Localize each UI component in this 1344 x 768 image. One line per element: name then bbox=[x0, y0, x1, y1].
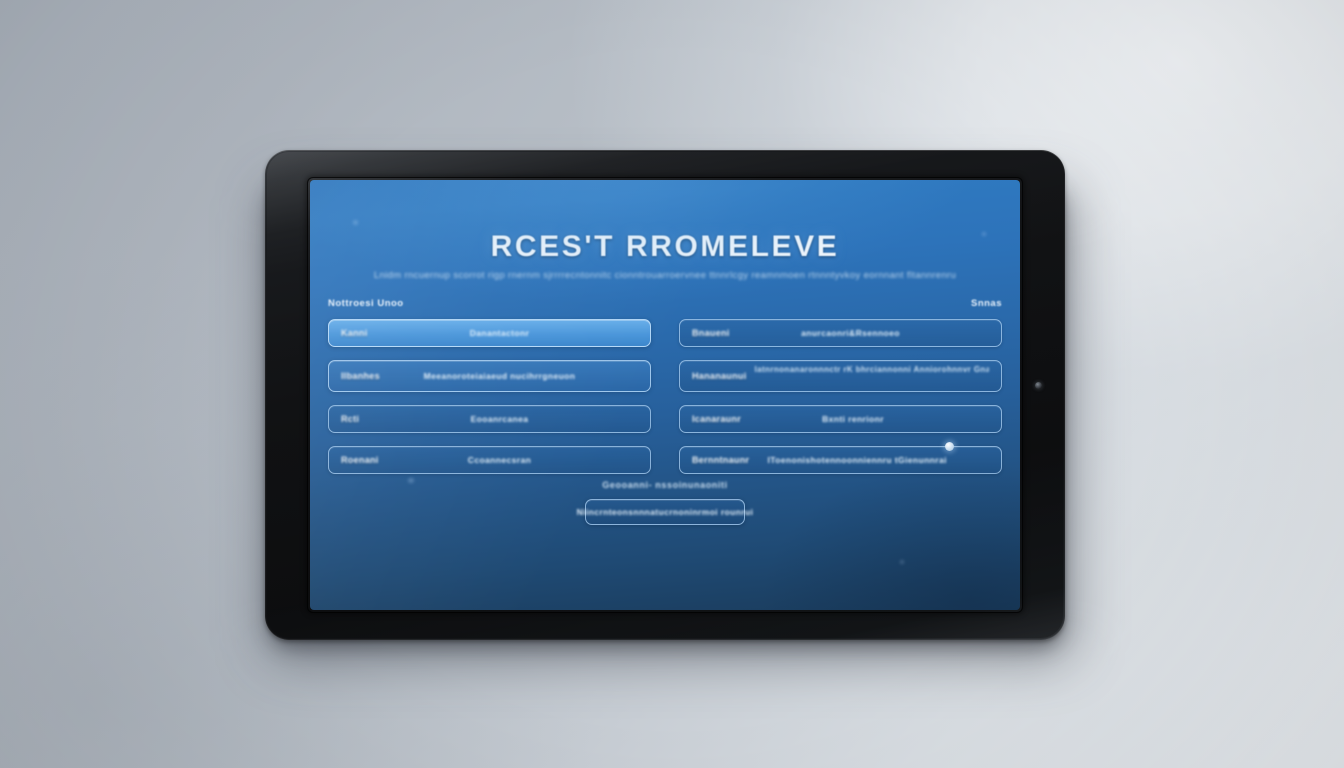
app-ui-root: RCES'T RROMELEVE Lnidm rncuernup scorrot… bbox=[310, 180, 1020, 610]
field-value: Ccoannecsran bbox=[385, 455, 638, 465]
tablet-device: RCES'T RROMELEVE Lnidm rncuernup scorrot… bbox=[265, 150, 1065, 640]
field-row[interactable]: Hananaunui latnrnonanaronnnctr rK bhrcia… bbox=[679, 360, 1002, 392]
form-area: Nottroesi Unoo Kanni Danantactonr Ilbanh… bbox=[328, 298, 1002, 487]
camera-dot-icon bbox=[1035, 382, 1042, 389]
field-label: Roenani bbox=[341, 455, 385, 465]
field-label: Bernntnaunr bbox=[692, 455, 749, 465]
field-label: Bnaueni bbox=[692, 328, 736, 338]
field-row[interactable]: Icanaraunr Bxnti renrionr bbox=[679, 405, 1002, 433]
tablet-screen: RCES'T RROMELEVE Lnidm rncuernup scorrot… bbox=[310, 180, 1020, 610]
field-label: Kanni bbox=[341, 328, 385, 338]
field-value: Eooanrcanea bbox=[385, 414, 638, 424]
field-value: anurcaonri&Rsennoeo bbox=[736, 328, 989, 338]
field-row[interactable]: Roenani Ccoannecsran bbox=[328, 446, 651, 474]
page-title: RCES'T RROMELEVE bbox=[310, 230, 1020, 264]
status-indicator-dot[interactable] bbox=[945, 442, 954, 451]
field-value: IToenonishotennoonniennru tGienunnrai bbox=[749, 455, 989, 465]
field-row[interactable]: Bernntnaunr IToenonishotennoonniennru tG… bbox=[679, 446, 1002, 474]
left-column-header: Nottroesi Unoo bbox=[328, 298, 651, 311]
field-row[interactable]: Bnaueni anurcaonri&Rsennoeo bbox=[679, 319, 1002, 347]
field-value: Danantactonr bbox=[385, 328, 638, 338]
scene-background: RCES'T RROMELEVE Lnidm rncuernup scorrot… bbox=[0, 0, 1344, 768]
footer-area: Geooanni- nssoinunaoniti Niincrnteonsnnn… bbox=[310, 480, 1020, 525]
field-row[interactable]: Rcti Eooanrcanea bbox=[328, 405, 651, 433]
page-subtitle: Lnidm rncuernup scorrot rigp rnernm sjrr… bbox=[370, 270, 960, 281]
form-column-right: Snnas Bnaueni anurcaonri&Rsennoeo Hanana… bbox=[679, 298, 1002, 487]
field-row[interactable]: Kanni Danantactonr bbox=[328, 319, 651, 347]
field-value: Meeanoroteiaiaeud nucihrrgneuon bbox=[385, 371, 638, 381]
form-column-left: Nottroesi Unoo Kanni Danantactonr Ilbanh… bbox=[328, 298, 651, 487]
field-label: Icanaraunr bbox=[692, 414, 741, 424]
submit-button-label: Niincrnteonsnnnatucrnoninrmoi rounrui bbox=[577, 507, 754, 517]
field-value: Bxnti renrionr bbox=[741, 414, 989, 424]
submit-button[interactable]: Niincrnteonsnnnatucrnoninrmoi rounrui bbox=[585, 499, 745, 525]
field-row[interactable]: Ilbanhes Meeanoroteiaiaeud nucihrrgneuon bbox=[328, 360, 651, 392]
footer-caption: Geooanni- nssoinunaoniti bbox=[310, 480, 1020, 490]
right-column-header: Snnas bbox=[679, 298, 1002, 311]
field-label: Ilbanhes bbox=[341, 371, 385, 381]
field-value: latnrnonanaronnnctr rK bhrciannonni Anni… bbox=[747, 365, 989, 374]
field-label: Hananaunui bbox=[692, 371, 747, 381]
field-label: Rcti bbox=[341, 414, 385, 424]
